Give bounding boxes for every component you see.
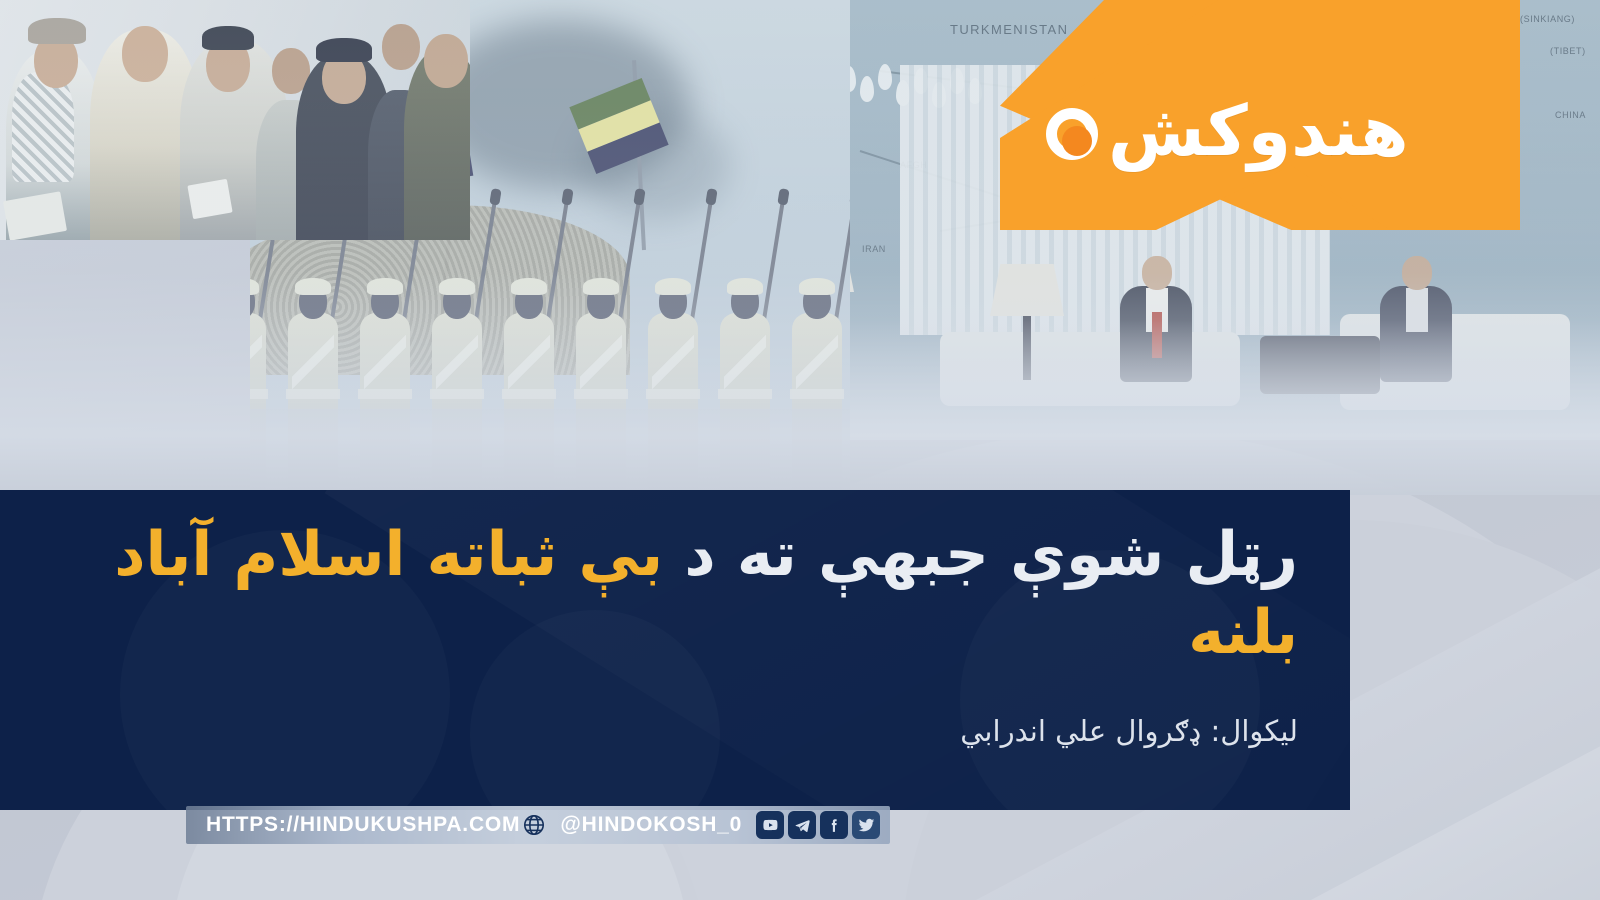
- map-label: CHINA: [1555, 110, 1586, 120]
- twitter-icon[interactable]: [852, 811, 880, 839]
- headline-part-orange: بې ثباته اسلام آباد: [114, 519, 663, 590]
- footer-social-bar: @HINDOKOSH_0 HTTPS://HINDUKUSHPA.COM: [186, 806, 890, 844]
- news-graphic-card: TURKMENISTAN Sheberghan Mazar-e Sharif (…: [0, 0, 1600, 900]
- brand-banner: هندوکش: [1000, 0, 1520, 230]
- globe-icon: [520, 811, 548, 839]
- page-title: رټل شوې جبهې ته د بې ثباته اسلام آباد بل…: [52, 516, 1298, 672]
- soldier-row: [250, 195, 850, 495]
- author-byline: لیکوال: ډګروال علي اندرابي: [52, 714, 1298, 748]
- website-url[interactable]: HTTPS://HINDUKUSHPA.COM: [206, 813, 520, 837]
- floor-glow: [820, 320, 1600, 440]
- headline-part-orange-line2: بلنه: [1188, 597, 1298, 668]
- brand-logo[interactable]: هندوکش: [1040, 96, 1409, 166]
- headline-part-white: رټل شوې جبهې ته د: [684, 519, 1298, 590]
- social-handle[interactable]: @HINDOKOSH_0: [560, 813, 742, 837]
- map-label: (TIBET): [1550, 46, 1586, 56]
- telegram-icon[interactable]: [788, 811, 816, 839]
- hindukosh-logo-mark-icon: [1040, 100, 1102, 162]
- youtube-icon[interactable]: [756, 811, 784, 839]
- ground: [250, 409, 850, 495]
- map-label: (SINKIANG): [1520, 14, 1575, 24]
- facebook-icon[interactable]: [820, 811, 848, 839]
- photo-group-of-men: [0, 0, 470, 240]
- headline-panel: رټل شوې جبهې ته د بې ثباته اسلام آباد بل…: [0, 490, 1350, 810]
- brand-name: هندوکش: [1108, 96, 1409, 166]
